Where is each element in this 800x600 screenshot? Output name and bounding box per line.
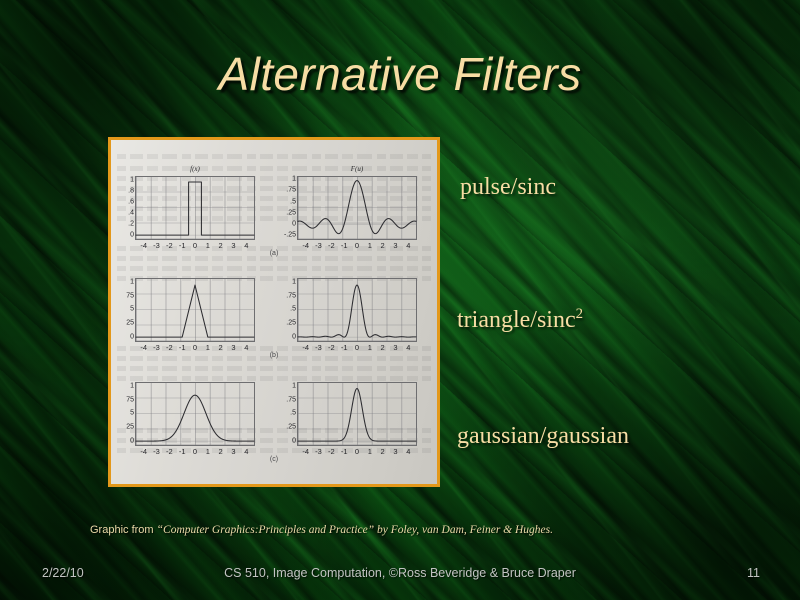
x-tick-label: -3 (315, 241, 322, 250)
filter-label-gaussian-gaussian: gaussian/gaussian (457, 423, 629, 450)
y-tick-label: 5 (130, 410, 134, 417)
y-tick-label: 1 (130, 382, 134, 389)
x-tick-label: 2 (219, 343, 223, 352)
graphic-credit-citation: “Computer Graphics:Principles and Practi… (157, 524, 553, 536)
x-tick-label: -4 (302, 241, 309, 250)
x-tick-label: -1 (341, 343, 348, 352)
x-tick-label: 1 (368, 343, 372, 352)
y-tick-label: .5 (290, 410, 296, 417)
y-tick-label: 0 (130, 438, 134, 445)
y-tick-label: 0 (130, 232, 134, 239)
x-tick-label: 4 (244, 241, 248, 250)
slide-title: Alternative Filters (0, 47, 800, 101)
x-tick-label: 1 (368, 447, 372, 456)
x-tick-label: 0 (355, 343, 359, 352)
x-tick-label: 3 (393, 343, 397, 352)
chart-pulse-axes: 1.8.6.4.20-4-3-2-101234 (135, 176, 255, 240)
x-tick-label: 4 (244, 343, 248, 352)
y-tick-label: 0 (130, 334, 134, 341)
y-tick-label: .75 (286, 187, 296, 194)
chart-sinc: F(u) 1.75.5.250-.25-4-3-2-101234 (297, 176, 417, 240)
x-tick-label: -2 (166, 241, 173, 250)
filter-label-pulse-sinc: pulse/sinc (460, 174, 556, 201)
chart-sinc-squared: 1.75.5.250-4-3-2-101234 (297, 278, 417, 342)
x-tick-label: 0 (355, 241, 359, 250)
y-tick-label: 75 (126, 292, 134, 299)
x-tick-label: -4 (140, 447, 147, 456)
x-tick-label: 1 (368, 241, 372, 250)
x-tick-label: 4 (406, 447, 410, 456)
x-tick-label: -1 (341, 447, 348, 456)
filter-label-triangle-sinc2: triangle/sinc2 (457, 306, 583, 334)
chart-sinc-axes: 1.75.5.250-.25-4-3-2-101234 (297, 176, 417, 240)
y-tick-label: 1 (130, 176, 134, 183)
x-tick-label: 1 (206, 447, 210, 456)
figure-frame: f(x) 1.8.6.4.20-4-3-2-101234 F(u) 1.75.5… (108, 137, 440, 487)
plot-row-c: 1755250-4-3-2-101234 1.75.5.250-4-3-2-10… (111, 374, 437, 468)
chart-pulse-title: f(x) (135, 165, 255, 173)
y-tick-label: 0 (292, 438, 296, 445)
chart-gaussian-wide-axes: 1755250-4-3-2-101234 (135, 382, 255, 446)
filter-label-pulse-sinc-text: pulse/sinc (460, 174, 556, 200)
x-tick-label: -2 (328, 447, 335, 456)
y-tick-label: .8 (128, 187, 134, 194)
plot-row-a: f(x) 1.8.6.4.20-4-3-2-101234 F(u) 1.75.5… (111, 164, 437, 258)
x-tick-label: 0 (355, 447, 359, 456)
x-tick-label: 1 (206, 343, 210, 352)
chart-sinc-title: F(u) (297, 165, 417, 173)
y-tick-label: .25 (286, 320, 296, 327)
x-tick-label: 3 (231, 241, 235, 250)
x-tick-label: 2 (219, 447, 223, 456)
row-tag-c: (c) (111, 456, 437, 463)
chart-pulse: f(x) 1.8.6.4.20-4-3-2-101234 (135, 176, 255, 240)
x-tick-label: 4 (406, 343, 410, 352)
x-tick-label: -1 (179, 447, 186, 456)
x-tick-label: -2 (328, 241, 335, 250)
row-tag-b: (b) (111, 352, 437, 359)
y-tick-label: .75 (286, 292, 296, 299)
y-tick-label: 25 (126, 320, 134, 327)
filter-label-triangle-sinc2-text: triangle/sinc (457, 307, 576, 333)
plot-row-b: 1755250-4-3-2-101234 1.75.5.250-4-3-2-10… (111, 270, 437, 364)
x-tick-label: 3 (393, 447, 397, 456)
y-tick-label: 0 (292, 221, 296, 228)
slide-footer: 2/22/10 CS 510, Image Computation, ©Ross… (0, 566, 800, 588)
chart-gaussian-narrow: 1.75.5.250-4-3-2-101234 (297, 382, 417, 446)
graphic-credit: Graphic from “Computer Graphics:Principl… (90, 524, 553, 536)
y-tick-label: 1 (292, 278, 296, 285)
y-tick-label: .25 (286, 209, 296, 216)
chart-triangle-axes: 1755250-4-3-2-101234 (135, 278, 255, 342)
x-tick-label: -2 (166, 343, 173, 352)
x-tick-label: 2 (381, 241, 385, 250)
x-tick-label: -1 (341, 241, 348, 250)
y-tick-label: 25 (126, 424, 134, 431)
y-tick-label: .5 (290, 198, 296, 205)
x-tick-label: 2 (381, 343, 385, 352)
x-tick-label: 0 (193, 343, 197, 352)
y-tick-label: .5 (290, 306, 296, 313)
x-tick-label: 0 (193, 447, 197, 456)
x-tick-label: 0 (193, 241, 197, 250)
x-tick-label: -1 (179, 241, 186, 250)
y-tick-label: .2 (128, 221, 134, 228)
x-tick-label: -2 (328, 343, 335, 352)
x-tick-label: -3 (153, 343, 160, 352)
ghost-text-line (117, 154, 431, 159)
x-tick-label: 1 (206, 241, 210, 250)
chart-triangle: 1755250-4-3-2-101234 (135, 278, 255, 342)
y-tick-label: .4 (128, 209, 134, 216)
y-tick-label: 5 (130, 306, 134, 313)
x-tick-label: -1 (179, 343, 186, 352)
x-tick-label: 3 (393, 241, 397, 250)
ghost-text-line (117, 366, 431, 371)
x-tick-label: -3 (153, 241, 160, 250)
x-tick-label: -3 (315, 343, 322, 352)
x-tick-label: 4 (406, 241, 410, 250)
filter-label-triangle-sinc2-exponent: 2 (576, 306, 583, 322)
footer-page-number: 11 (747, 566, 760, 580)
footer-course-info: CS 510, Image Computation, ©Ross Beverid… (0, 566, 800, 580)
filter-label-gaussian-gaussian-text: gaussian/gaussian (457, 423, 629, 449)
y-tick-label: 1 (292, 176, 296, 183)
x-tick-label: -3 (153, 447, 160, 456)
x-tick-label: 3 (231, 447, 235, 456)
chart-gaussian-wide: 1755250-4-3-2-101234 (135, 382, 255, 446)
x-tick-label: -4 (302, 343, 309, 352)
x-tick-label: -4 (302, 447, 309, 456)
y-tick-label: 1 (130, 278, 134, 285)
x-tick-label: -4 (140, 241, 147, 250)
x-tick-label: 2 (381, 447, 385, 456)
x-tick-label: -3 (315, 447, 322, 456)
slide: Alternative Filters f(x) (0, 0, 800, 600)
y-tick-label: 1 (292, 382, 296, 389)
row-tag-a: (a) (111, 250, 437, 257)
y-tick-label: 75 (126, 396, 134, 403)
chart-gaussian-narrow-axes: 1.75.5.250-4-3-2-101234 (297, 382, 417, 446)
x-tick-label: 4 (244, 447, 248, 456)
y-tick-label: -.25 (284, 232, 296, 239)
y-tick-label: .75 (286, 396, 296, 403)
y-tick-label: .6 (128, 198, 134, 205)
y-tick-label: .25 (286, 424, 296, 431)
x-tick-label: 2 (219, 241, 223, 250)
chart-sinc-squared-axes: 1.75.5.250-4-3-2-101234 (297, 278, 417, 342)
graphic-credit-prefix: Graphic from (90, 524, 154, 536)
x-tick-label: -2 (166, 447, 173, 456)
x-tick-label: 3 (231, 343, 235, 352)
y-tick-label: 0 (292, 334, 296, 341)
x-tick-label: -4 (140, 343, 147, 352)
